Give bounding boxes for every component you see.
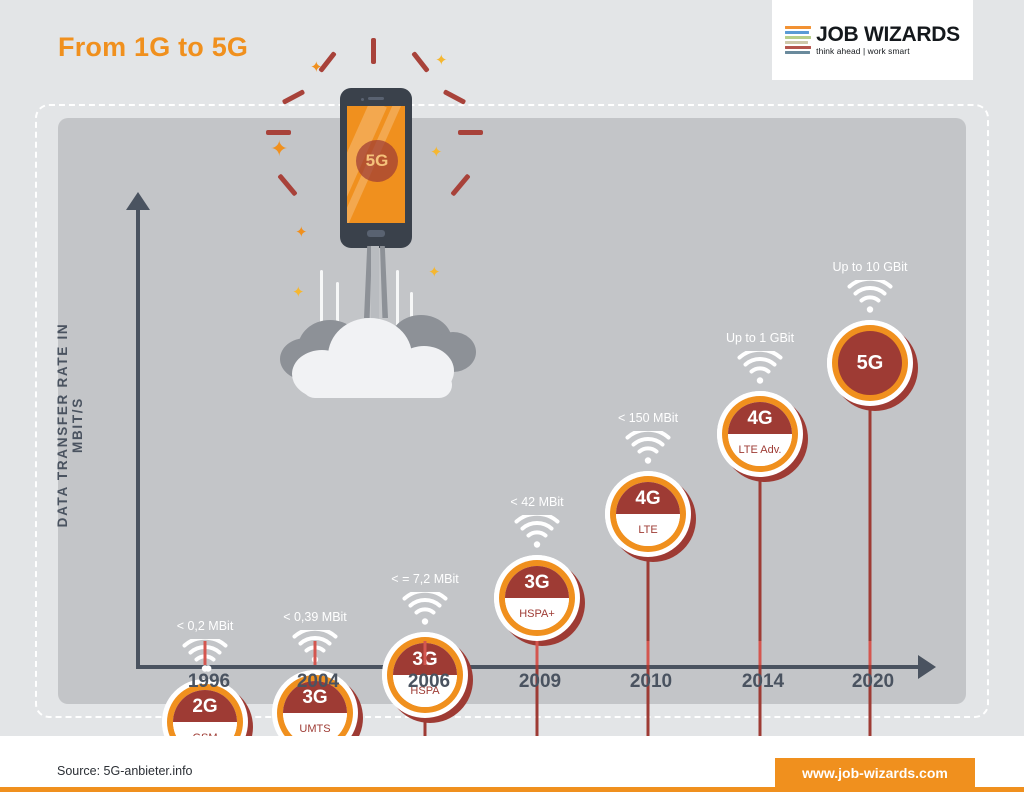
generation-label: 4G — [635, 489, 660, 508]
node-badge[interactable]: 4G LTE — [605, 471, 691, 557]
speed-label: Up to 10 GBit — [800, 260, 940, 274]
brand-logo: JOB WIZARDS think ahead | work smart — [772, 0, 973, 80]
x-tick — [314, 641, 317, 665]
stem — [869, 368, 872, 792]
technology-label: HSPA+ — [519, 609, 555, 620]
generation-label: 2G — [192, 697, 217, 716]
badge-face: 4G LTE Adv. — [728, 402, 792, 466]
generation-label: 5G — [857, 353, 884, 373]
technology-label: LTE Adv. — [738, 445, 781, 456]
x-axis-year-label: 2004 — [258, 671, 378, 693]
x-axis-year-label: 2006 — [369, 671, 489, 693]
sparkle-icon: ✦ — [435, 53, 448, 68]
wifi-icon — [402, 592, 448, 626]
phone-speaker-icon — [368, 97, 384, 100]
x-tick — [647, 641, 650, 665]
ray-icon — [371, 38, 376, 64]
technology-label: UMTS — [299, 724, 330, 735]
page-title: From 1G to 5G — [58, 32, 248, 63]
badge-face: 4G LTE — [616, 482, 680, 546]
x-tick — [536, 641, 539, 665]
wifi-icon — [737, 351, 783, 385]
x-tick — [869, 641, 872, 665]
ray-icon — [282, 89, 306, 105]
footer-accent-rule — [0, 787, 1024, 792]
logo-name: JOB WIZARDS — [816, 24, 960, 45]
wifi-icon — [625, 431, 671, 465]
source-label: Source: 5G-anbieter.info — [57, 764, 193, 778]
x-axis-year-label: 2009 — [480, 671, 600, 693]
phone-camera-icon — [361, 98, 364, 101]
x-tick — [759, 641, 762, 665]
node-badge[interactable]: 5G — [827, 320, 913, 406]
y-axis-label: DATA TRANSFER RATE IN MBIT/S — [55, 295, 85, 555]
website-url-label: www.job-wizards.com — [802, 765, 948, 781]
x-axis-year-label: 2020 — [813, 671, 933, 693]
badge-face: 3G HSPA+ — [505, 566, 569, 630]
x-axis-year-label: 2010 — [591, 671, 711, 693]
node-badge[interactable]: 3G HSPA+ — [494, 555, 580, 641]
sparkle-icon: ✦ — [310, 60, 323, 75]
wifi-icon — [514, 515, 560, 549]
x-axis-year-label: 2014 — [703, 671, 823, 693]
logo-tagline: think ahead | work smart — [816, 47, 960, 55]
website-url-button[interactable]: www.job-wizards.com — [775, 758, 975, 788]
ray-icon — [443, 89, 467, 105]
ray-icon — [411, 51, 430, 73]
logo-bars-icon — [785, 26, 811, 54]
x-axis-year-label: 1996 — [149, 671, 269, 693]
node-badge[interactable]: 4G LTE Adv. — [717, 391, 803, 477]
generation-label: 3G — [524, 573, 549, 592]
badge-face: 5G — [838, 331, 902, 395]
x-tick — [424, 641, 427, 665]
x-tick — [204, 641, 207, 665]
generation-label: 4G — [747, 409, 772, 428]
wifi-icon — [847, 280, 893, 314]
technology-label: LTE — [638, 525, 657, 536]
